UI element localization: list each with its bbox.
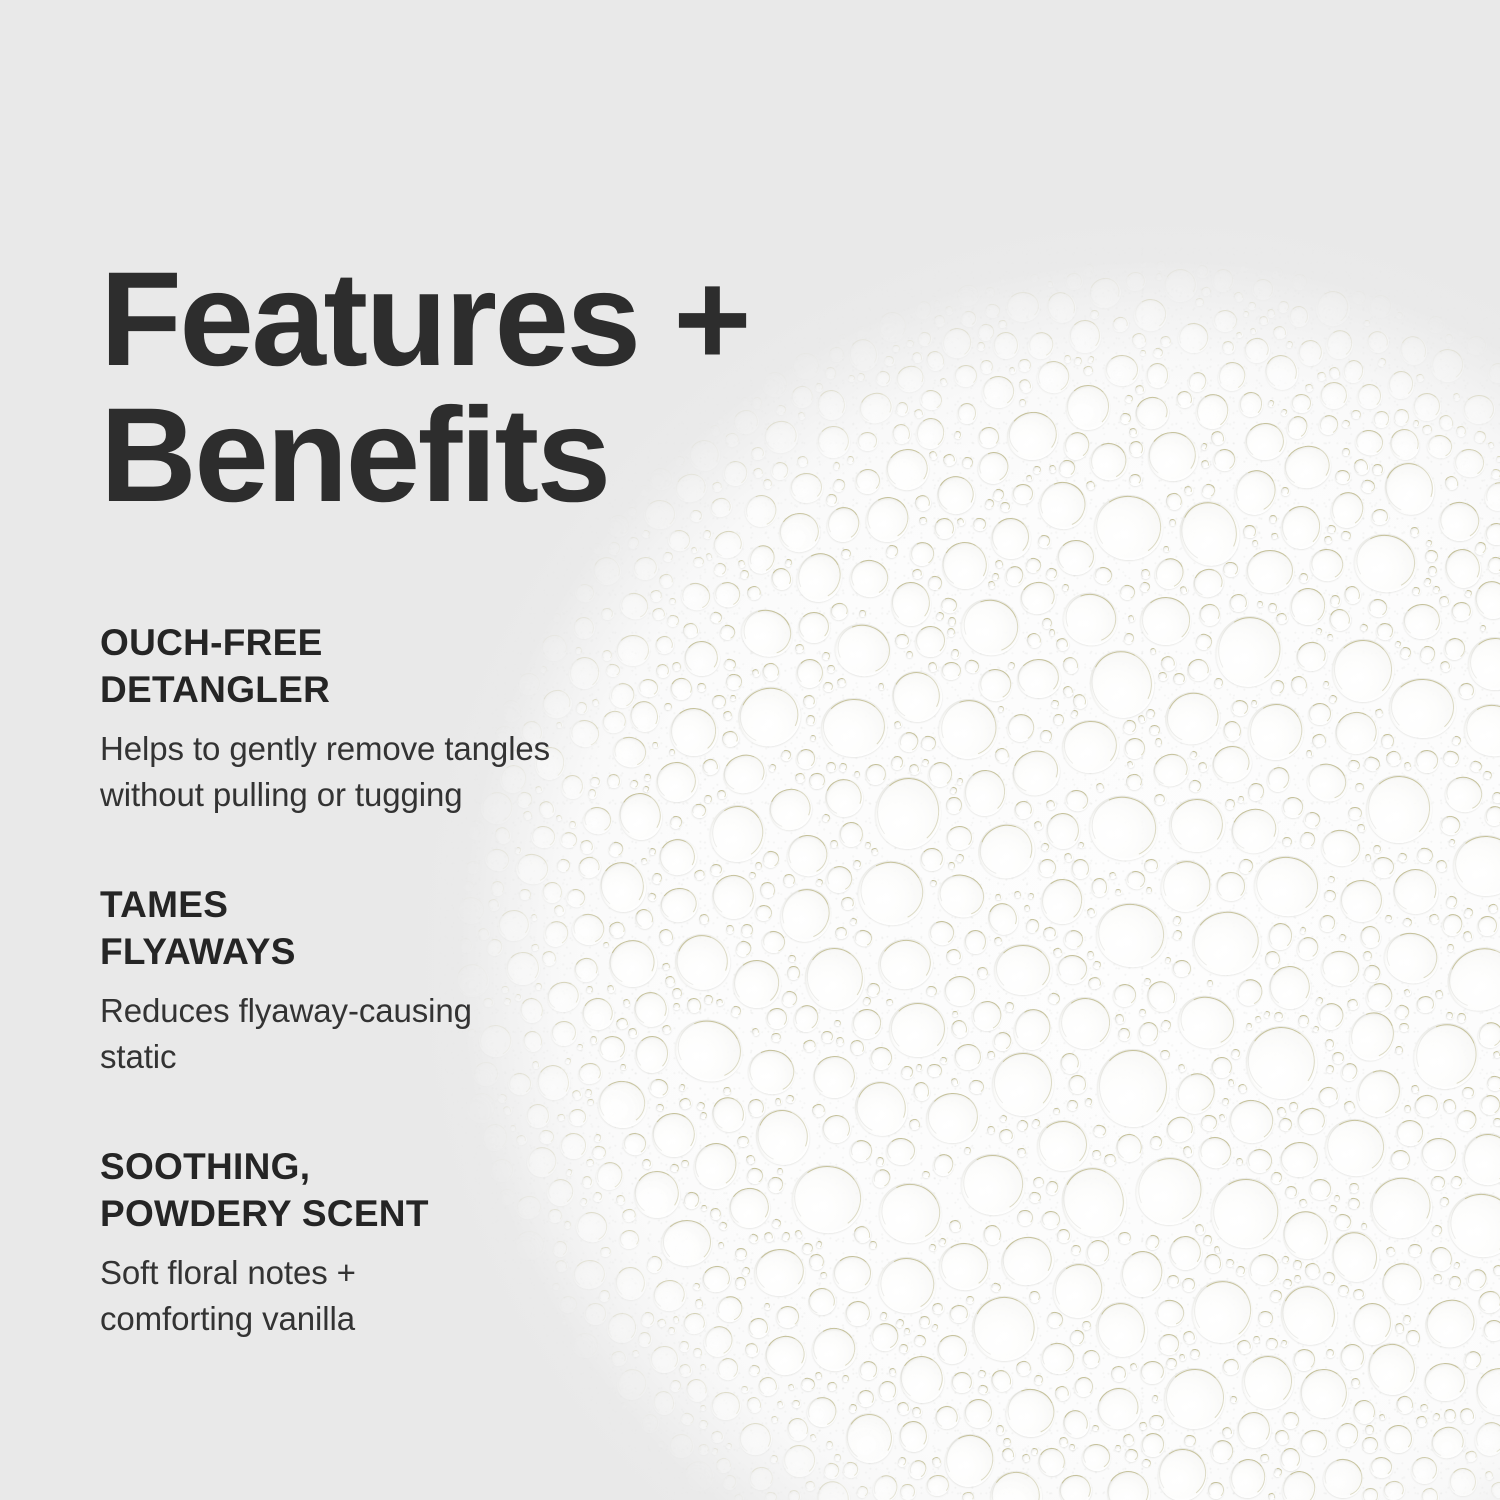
feature-title: OUCH-FREE DETANGLER	[100, 620, 620, 714]
feature-title: TAMES FLYAWAYS	[100, 882, 620, 976]
page-title: Features + Benefits	[100, 252, 860, 525]
feature-description-line-2: static	[100, 1034, 620, 1081]
feature-description-line-2: comforting vanilla	[100, 1296, 620, 1343]
feature-description-line-1: Soft floral notes +	[100, 1250, 620, 1297]
features-list: OUCH-FREE DETANGLER Helps to gently remo…	[100, 620, 620, 1343]
feature-description: Helps to gently remove tangles without p…	[100, 726, 620, 819]
feature-title-line-1: TAMES	[100, 882, 620, 929]
feature-item-tames-flyaways: TAMES FLYAWAYS Reduces flyaway-causing s…	[100, 882, 620, 1081]
feature-title-line-2: FLYAWAYS	[100, 929, 620, 976]
feature-description-line-2: without pulling or tugging	[100, 772, 620, 819]
page-title-line-2: Benefits	[100, 388, 860, 525]
content-column: Features + Benefits OUCH-FREE DETANGLER …	[0, 0, 1500, 1500]
page-title-line-1: Features +	[100, 252, 860, 389]
feature-description: Soft floral notes + comforting vanilla	[100, 1250, 620, 1343]
feature-item-ouch-free-detangler: OUCH-FREE DETANGLER Helps to gently remo…	[100, 620, 620, 819]
feature-item-soothing-powdery-scent: SOOTHING, POWDERY SCENT Soft floral note…	[100, 1144, 620, 1343]
feature-title-line-2: DETANGLER	[100, 667, 620, 714]
feature-description-line-1: Helps to gently remove tangles	[100, 726, 620, 773]
feature-title-line-1: OUCH-FREE	[100, 620, 620, 667]
feature-description: Reduces flyaway-causing static	[100, 988, 620, 1081]
feature-description-line-1: Reduces flyaway-causing	[100, 988, 620, 1035]
feature-title: SOOTHING, POWDERY SCENT	[100, 1144, 620, 1238]
feature-title-line-1: SOOTHING,	[100, 1144, 620, 1191]
feature-title-line-2: POWDERY SCENT	[100, 1191, 620, 1238]
product-feature-card: Features + Benefits OUCH-FREE DETANGLER …	[0, 0, 1500, 1500]
